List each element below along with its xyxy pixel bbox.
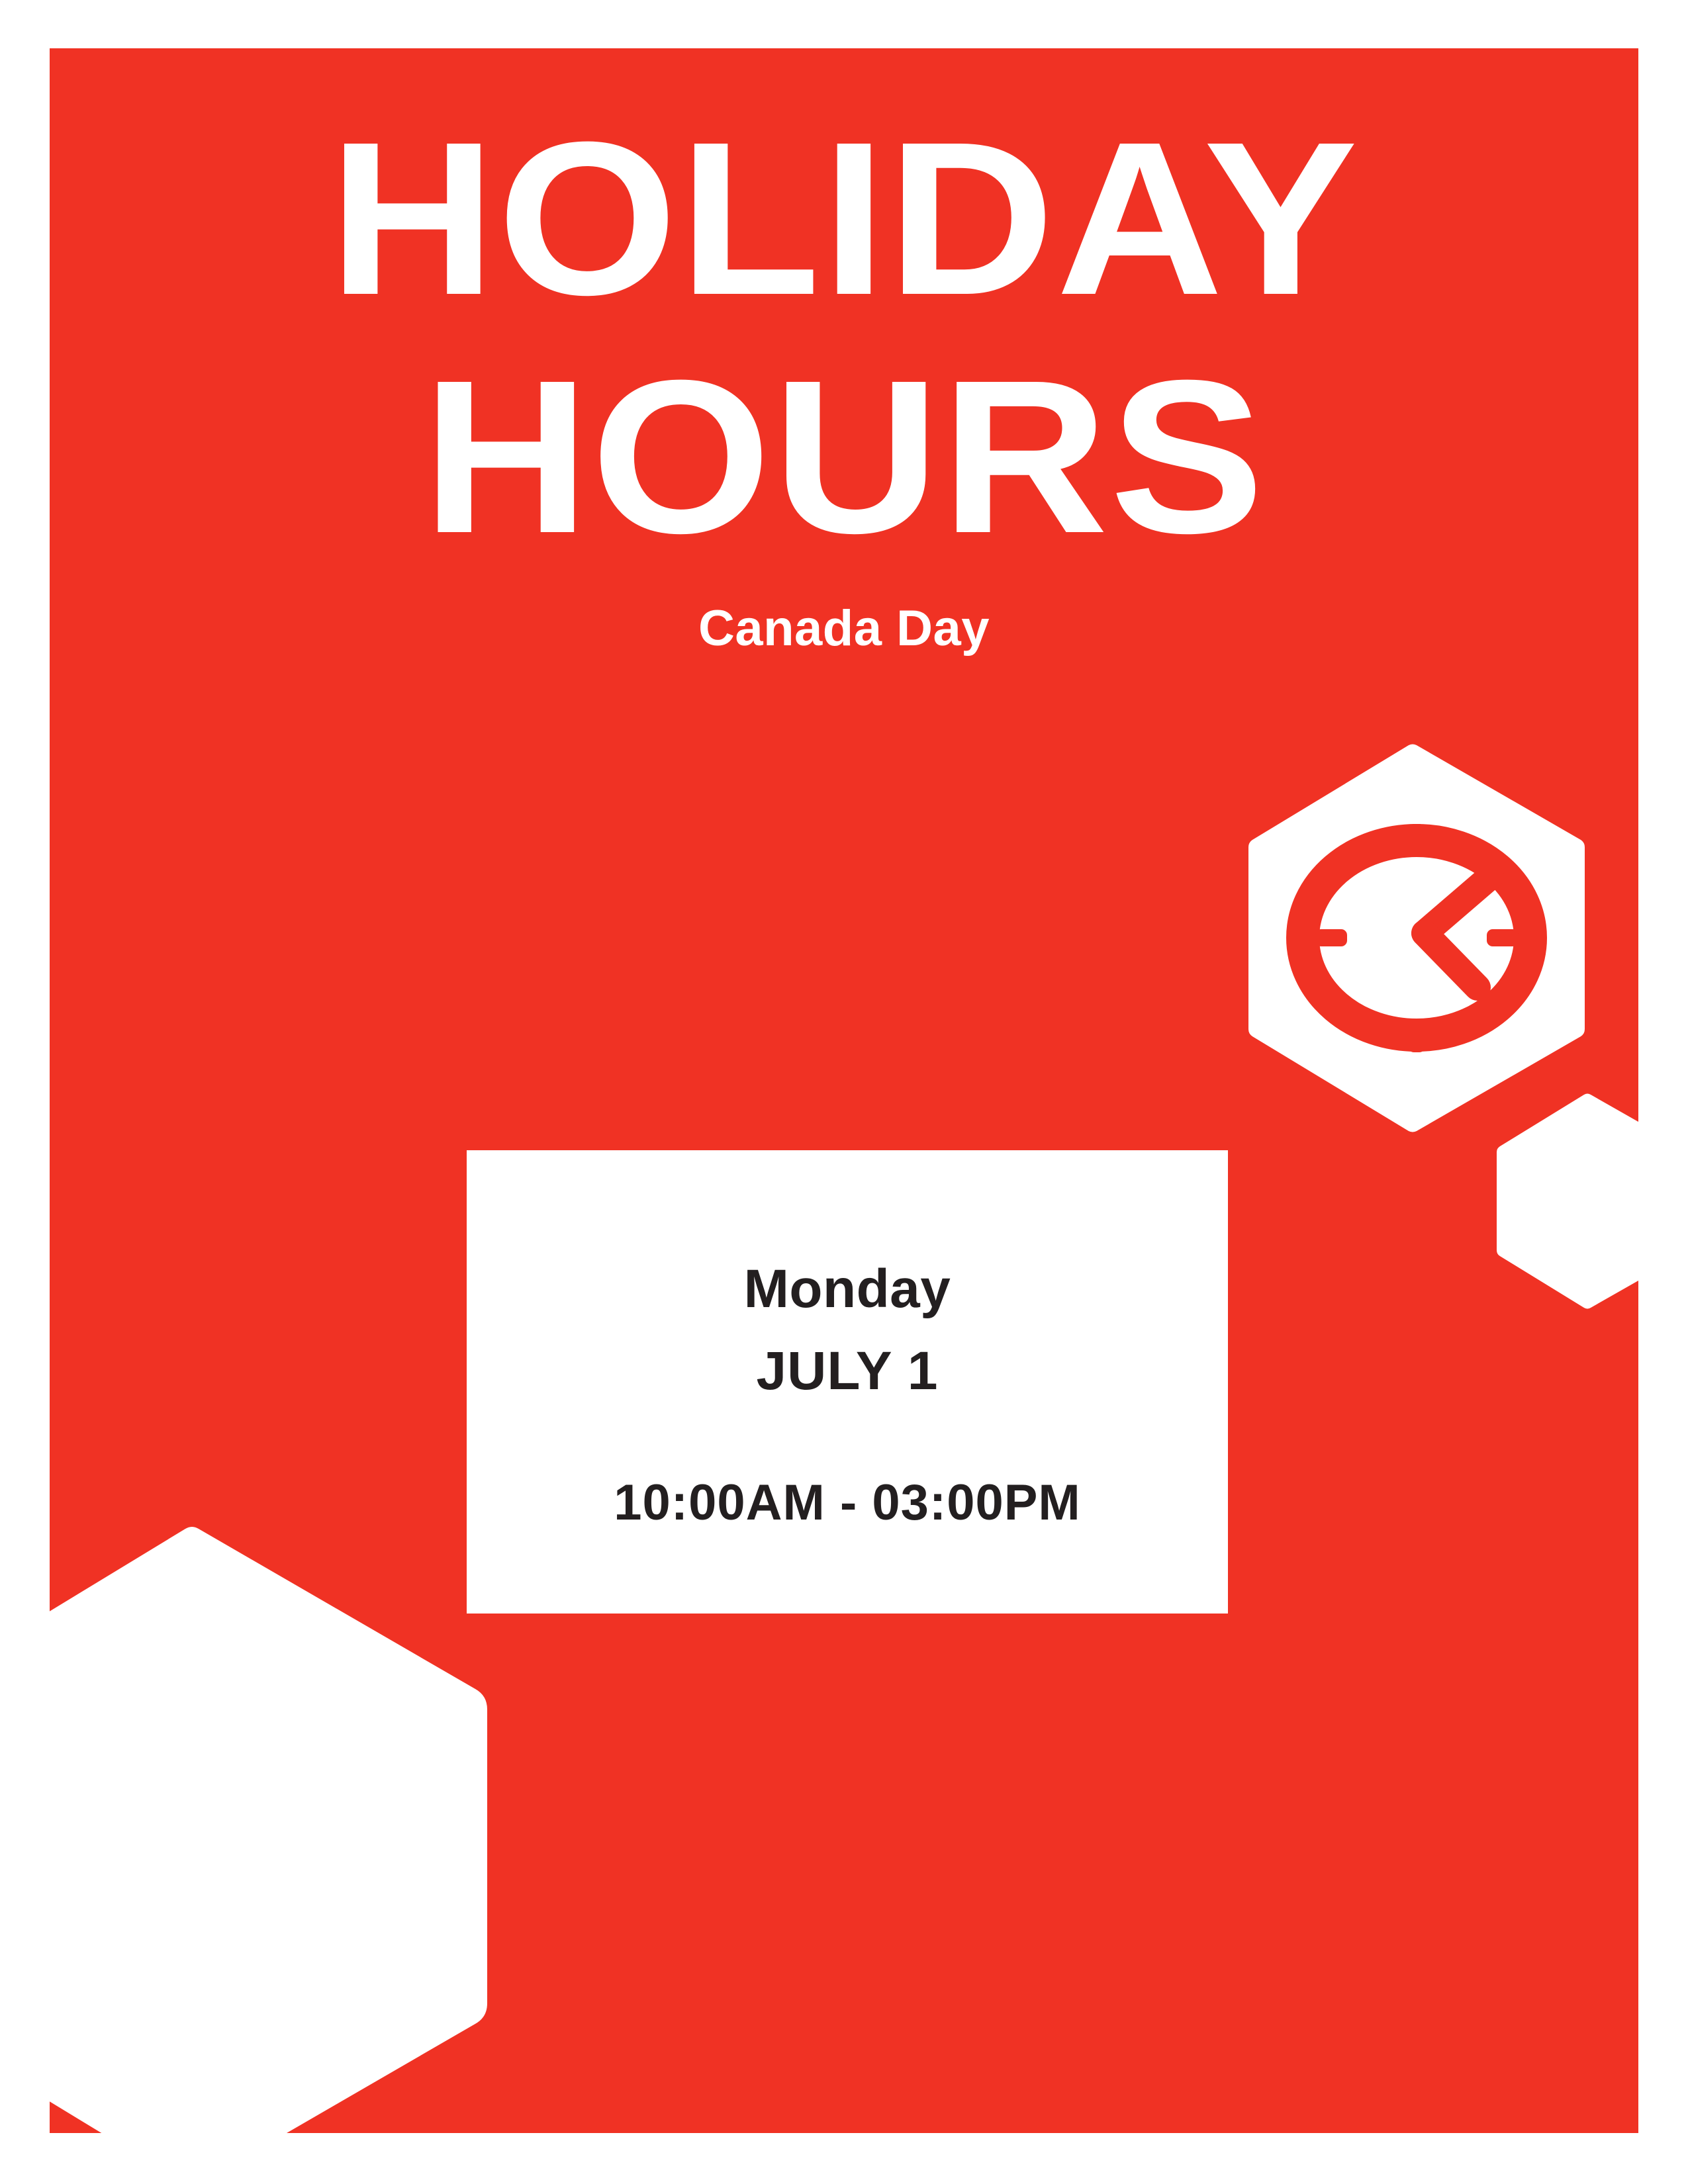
hexagon-icon <box>1495 1092 1687 1310</box>
page-title: HOLIDAY HOURS <box>50 99 1638 576</box>
card-time-label: 10:00AM - 03:00PM <box>614 1473 1081 1533</box>
hexagon-shape-large <box>0 1522 490 2184</box>
headline-line-1: HOLIDAY <box>2 99 1686 338</box>
card-date-label: JULY 1 <box>757 1340 939 1403</box>
holiday-hours-poster: HOLIDAY HOURS Canada Day Monday JULY 1 1… <box>0 0 1688 2184</box>
page-subtitle: Canada Day <box>50 599 1638 659</box>
hexagon-clock-badge <box>1244 741 1589 1135</box>
hexagon-shape-small <box>1495 1092 1687 1310</box>
hexagon-icon <box>0 1522 490 2184</box>
card-day-label: Monday <box>744 1257 951 1321</box>
clock-icon <box>1244 741 1589 1135</box>
hours-info-card: Monday JULY 1 10:00AM - 03:00PM <box>467 1150 1228 1614</box>
headline-line-2: HOURS <box>2 338 1686 576</box>
